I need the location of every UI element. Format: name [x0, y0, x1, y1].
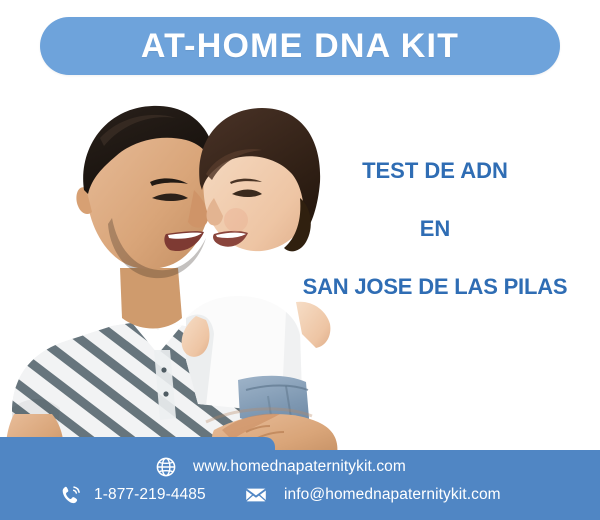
globe-icon	[155, 456, 177, 478]
footer-content: www.homednapaternitykit.com 1-877-219-44…	[0, 450, 600, 520]
headline-block: TEST DE ADN EN SAN JOSE DE LAS PILAS	[285, 160, 585, 298]
headline-line-1: TEST DE ADN	[285, 160, 585, 182]
footer-email-label: info@homednapaternitykit.com	[284, 486, 501, 504]
footer-email-row[interactable]: info@homednapaternitykit.com	[245, 484, 501, 506]
poster-canvas: AT-HOME DNA KIT	[0, 0, 600, 520]
headline-line-3: SAN JOSE DE LAS PILAS	[285, 276, 585, 298]
page-title: AT-HOME DNA KIT	[141, 29, 459, 63]
headline-line-2: EN	[285, 218, 585, 240]
envelope-icon	[245, 484, 267, 506]
footer-website-label: www.homednapaternitykit.com	[193, 458, 406, 476]
footer-phone-row[interactable]: 1-877-219-4485	[60, 484, 206, 506]
phone-icon	[60, 484, 82, 506]
header-banner: AT-HOME DNA KIT	[40, 17, 560, 75]
footer-phone-label: 1-877-219-4485	[94, 486, 206, 504]
footer-website-row[interactable]: www.homednapaternitykit.com	[155, 456, 406, 478]
